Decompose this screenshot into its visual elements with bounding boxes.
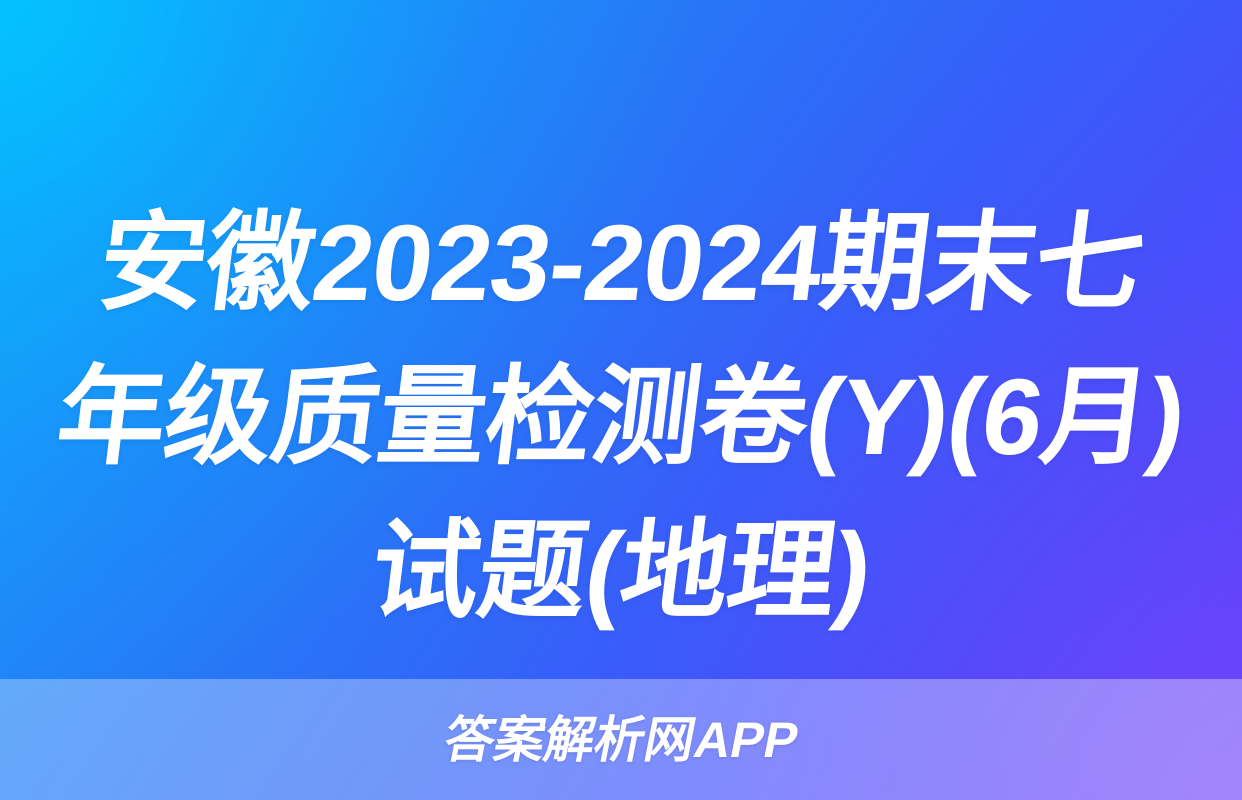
footer-watermark-band: 答案解析网APP (0, 679, 1242, 800)
page-title: 安徽2023-2024期末七 年级质量检测卷(Y)(6月) 试题(地理) (0, 186, 1242, 648)
exam-cover-card: 安徽2023-2024期末七 年级质量检测卷(Y)(6月) 试题(地理) 答案解… (0, 0, 1242, 800)
app-watermark-label: 答案解析网APP (440, 715, 803, 765)
title-line-2: 年级质量检测卷(Y)(6月) (0, 340, 1242, 494)
title-line-1: 安徽2023-2024期末七 (0, 186, 1242, 340)
title-line-3: 试题(地理) (0, 494, 1242, 648)
